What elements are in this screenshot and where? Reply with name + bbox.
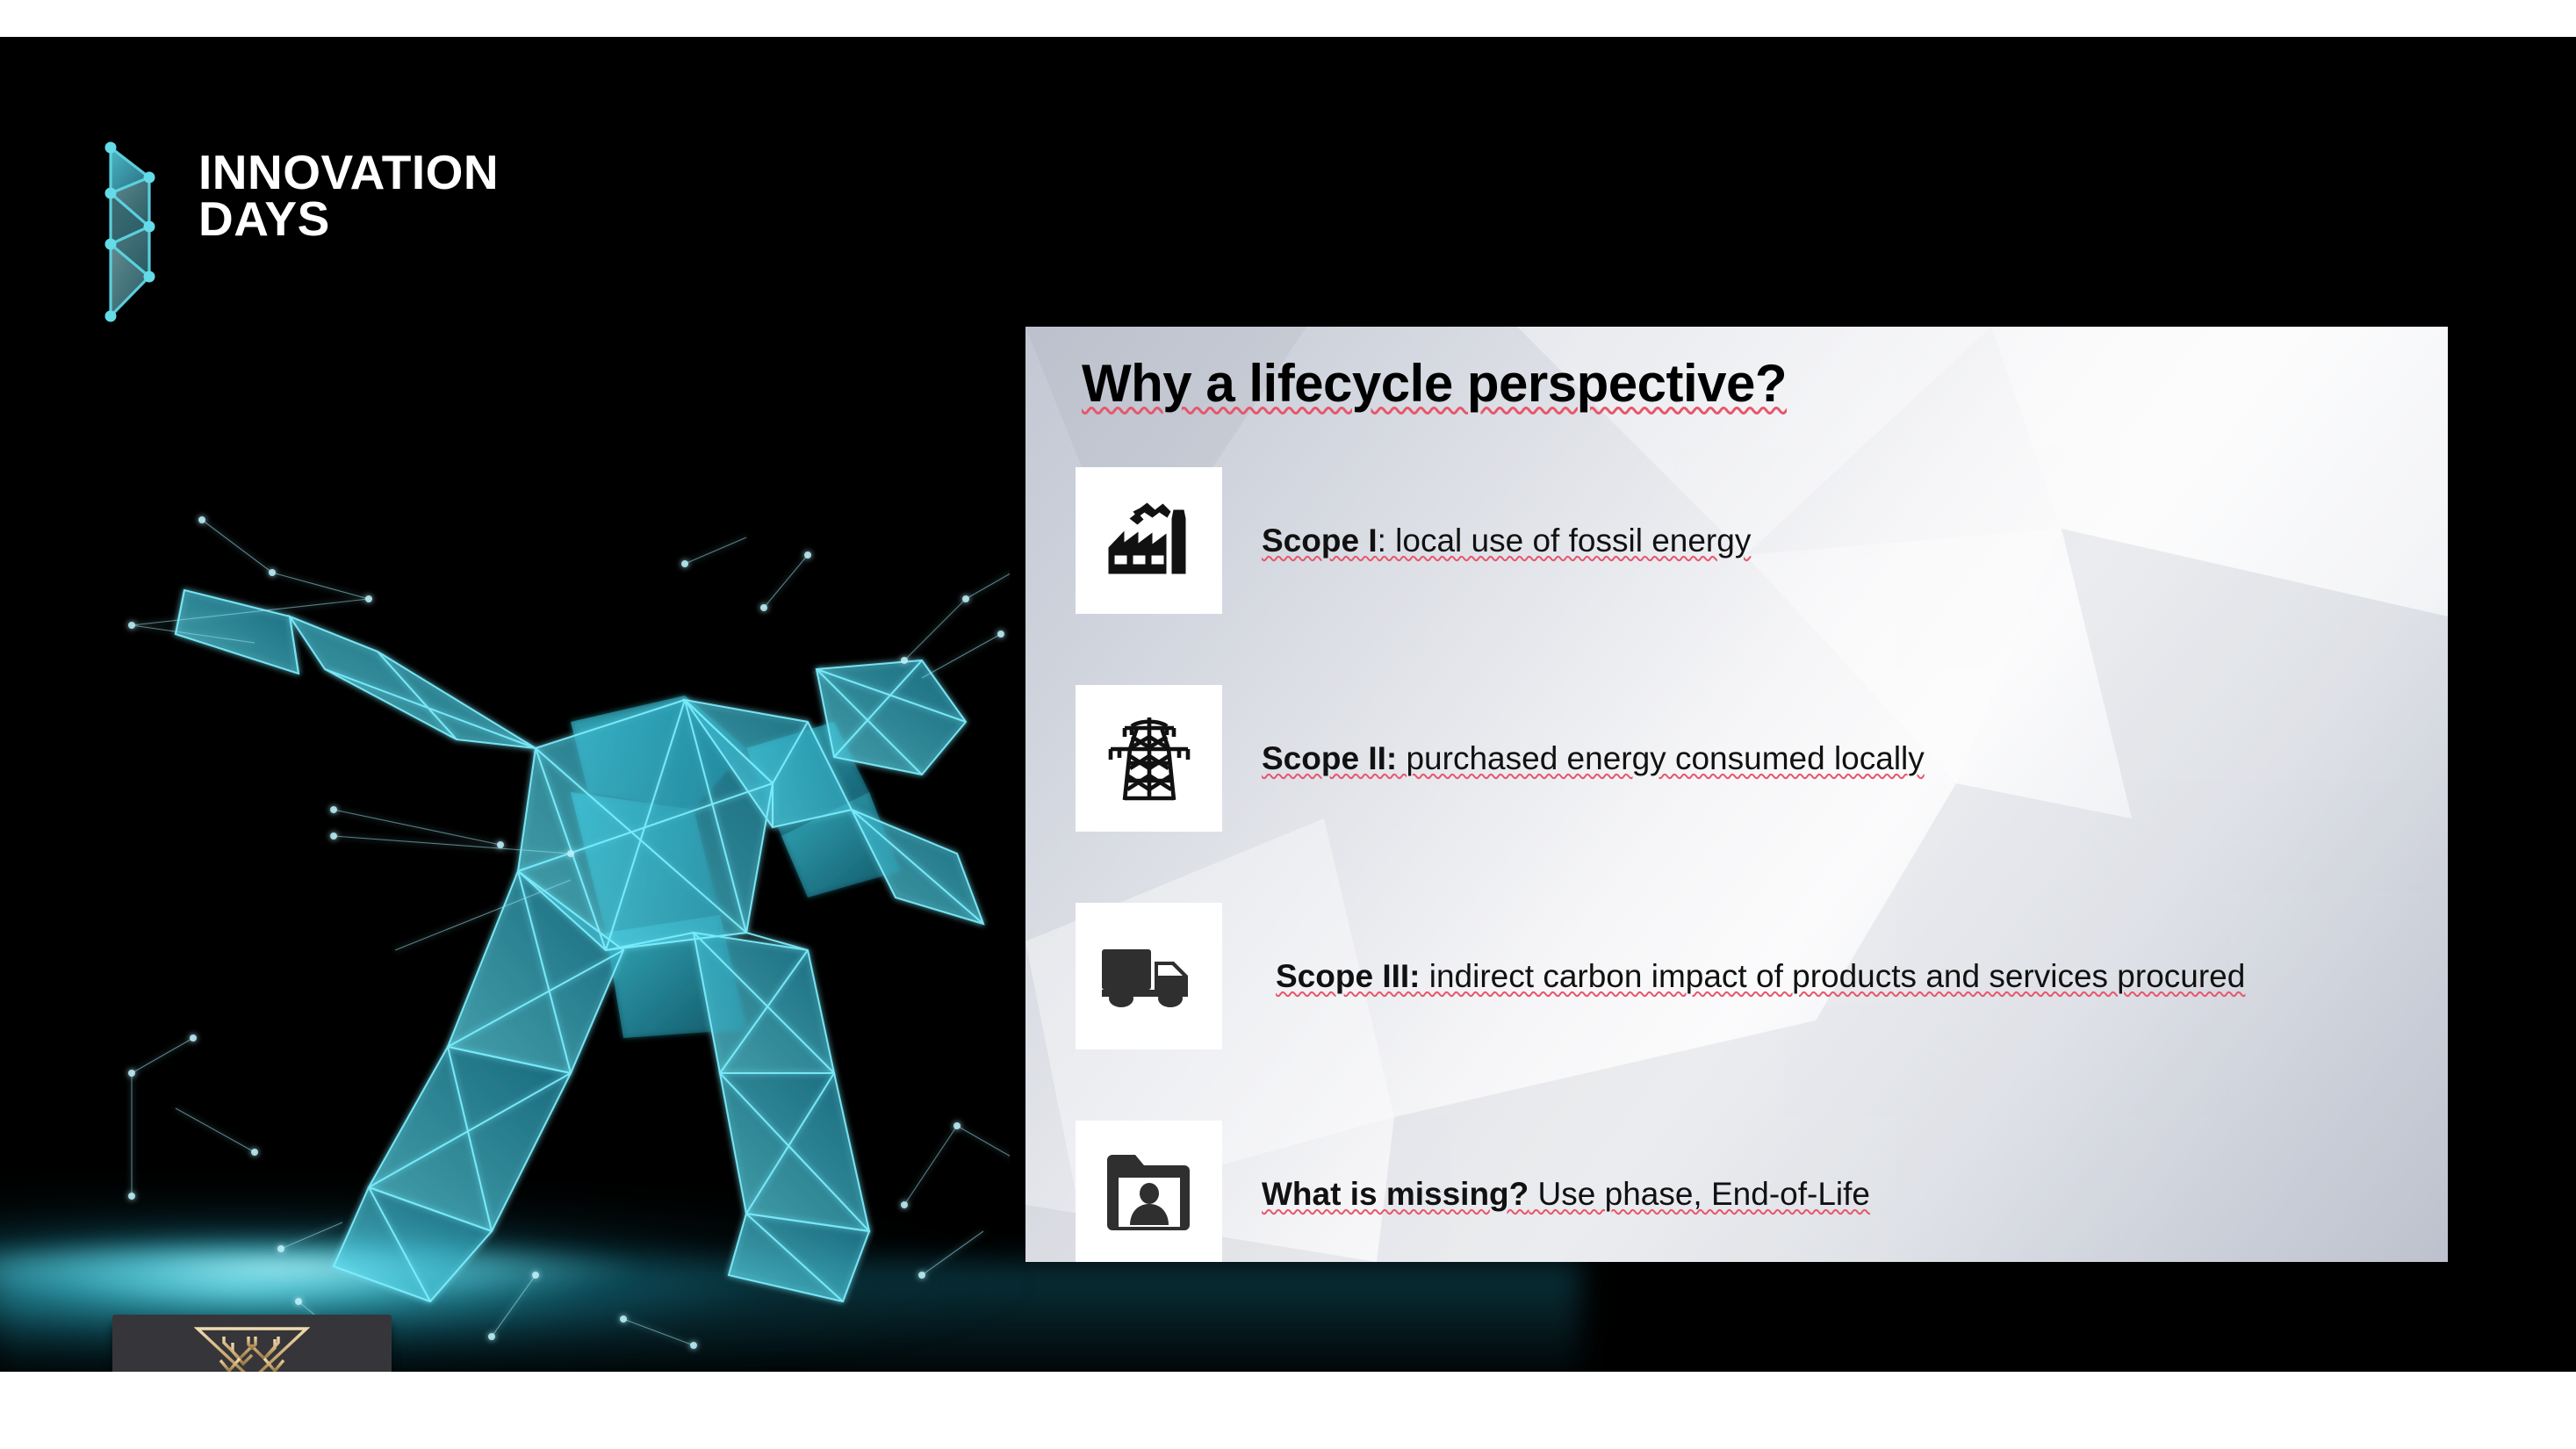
scope-row-3-text: Scope III: indirect carbon impact of pro… — [1276, 958, 2245, 995]
scope-row-2: Scope II: purchased energy consumed loca… — [1076, 685, 2428, 832]
scope-row-3: Scope III: indirect carbon impact of pro… — [1076, 903, 2428, 1049]
card-title: Why a lifecycle perspective? — [1082, 353, 1787, 414]
scope-row-4-label: What is missing? — [1262, 1176, 1529, 1212]
low-poly-runner-illustration — [79, 458, 1010, 1372]
delivery-truck-icon-tile — [1076, 903, 1222, 1049]
scope-row-2-text: Scope II: purchased energy consumed loca… — [1262, 740, 1925, 777]
wordmark-line-2: DAYS — [198, 196, 499, 242]
scope-row-4-desc: Use phase, End-of-Life — [1529, 1176, 1870, 1212]
power-transmission-tower-icon-tile — [1076, 685, 1222, 832]
scope-row-4-text: What is missing? Use phase, End-of-Life — [1262, 1176, 1870, 1213]
scope-row-1: Scope I: local use of fossil energy — [1076, 467, 2428, 614]
wordmark-line-1: INNOVATION — [198, 149, 499, 196]
scope-row-1-text: Scope I: local use of fossil energy — [1262, 523, 1751, 559]
trelleborg-logo: TRELLEBORG — [112, 1315, 392, 1372]
innovation-days-wordmark: INNOVATION DAYS — [198, 149, 499, 242]
slide-canvas: INNOVATION DAYS — [0, 37, 2576, 1372]
factory-icon-tile — [1076, 467, 1222, 614]
folder-person-icon-tile — [1076, 1121, 1222, 1262]
scope-row-1-desc: : local use of fossil energy — [1378, 523, 1752, 559]
scope-row-2-label: Scope II: — [1262, 740, 1397, 776]
scope-row-2-desc: purchased energy consumed locally — [1397, 740, 1925, 776]
scope-row-3-desc: indirect carbon impact of products and s… — [1420, 958, 2245, 994]
content-card: Why a lifecycle perspective? — [1025, 327, 2448, 1262]
innovation-days-polygon-mark-icon — [104, 141, 181, 325]
scope-row-3-label: Scope III: — [1276, 958, 1420, 994]
scope-row-4: What is missing? Use phase, End-of-Life — [1076, 1121, 2428, 1262]
scope-row-1-label: Scope I — [1262, 523, 1378, 559]
